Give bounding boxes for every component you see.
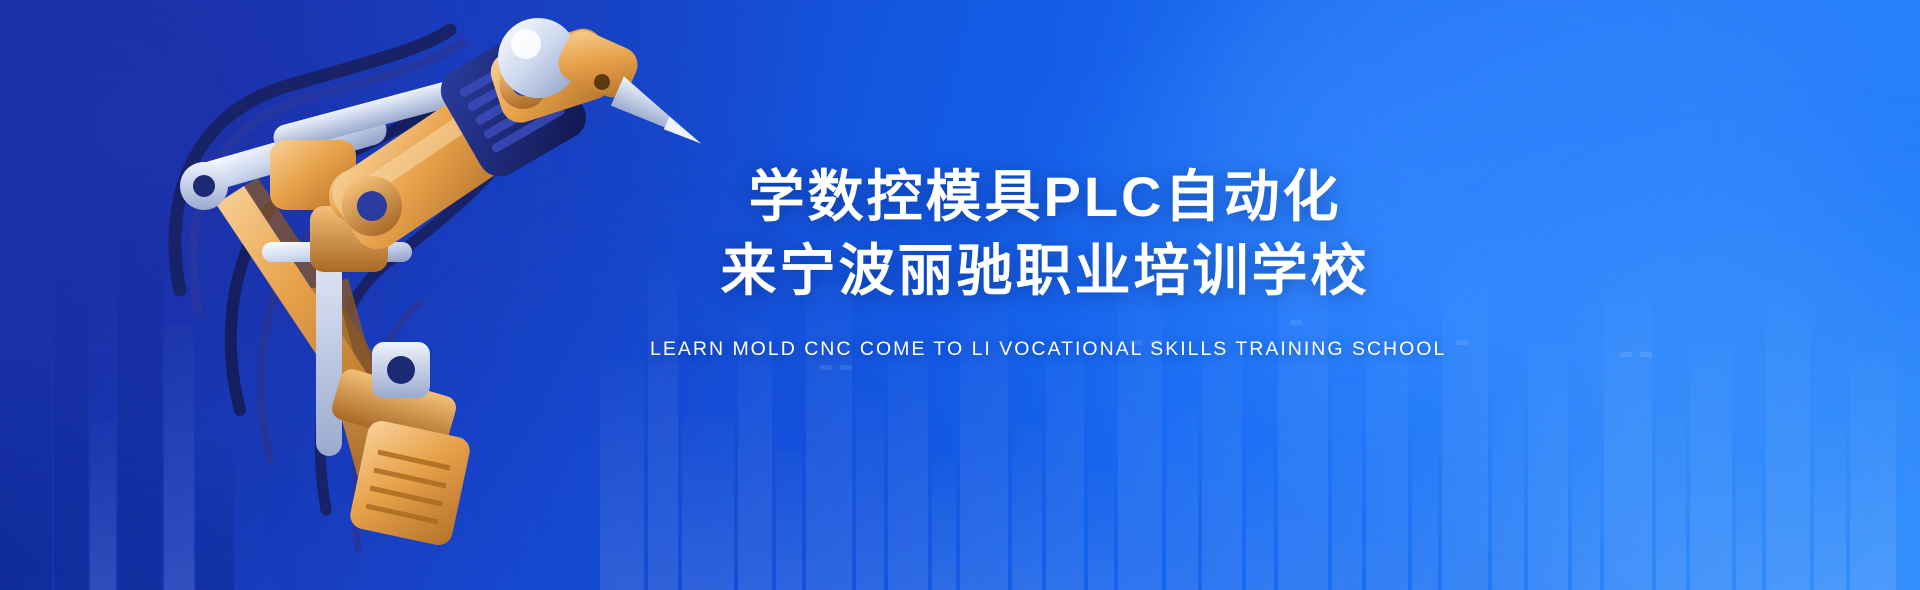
subtitle-english: LEARN MOLD CNC COME TO LI VOCATIONAL SKI… [650, 338, 1440, 361]
headline-line-2: 来宁波丽驰职业培训学校 [650, 234, 1440, 308]
headline-line-1: 学数控模具PLC自动化 [650, 160, 1440, 234]
promo-banner: 学数控模具PLC自动化 来宁波丽驰职业培训学校 LEARN MOLD CNC C… [0, 0, 1920, 590]
banner-copy: 学数控模具PLC自动化 来宁波丽驰职业培训学校 LEARN MOLD CNC C… [650, 160, 1440, 361]
